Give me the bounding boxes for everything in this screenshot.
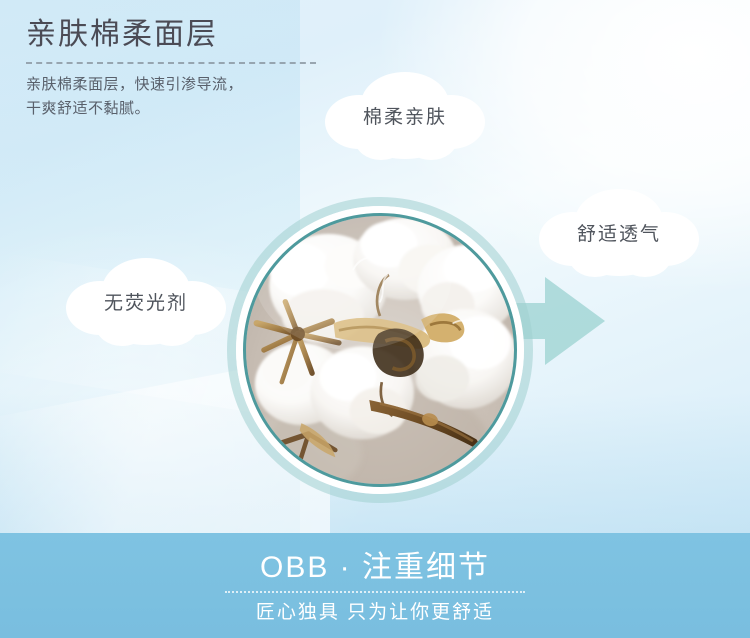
banner-divider <box>225 591 525 593</box>
title-divider <box>26 62 316 64</box>
cloud-badge-comfort-breathe: 舒适透气 <box>535 183 703 281</box>
cotton-photo-circle <box>227 197 533 503</box>
subtitle-line-2: 干爽舒适不黏腻。 <box>26 97 356 121</box>
page-title: 亲肤棉柔面层 <box>26 16 356 54</box>
banner-subtitle: 匠心独具 只为让你更舒适 <box>256 597 494 624</box>
product-detail-banner: 亲肤棉柔面层 亲肤棉柔面层，快速引渗导流， 干爽舒适不黏腻。 <box>0 0 750 638</box>
cloud-label-comfort-breathe: 舒适透气 <box>577 219 661 246</box>
cotton-photo <box>246 216 514 484</box>
header-block: 亲肤棉柔面层 亲肤棉柔面层，快速引渗导流， 干爽舒适不黏腻。 <box>26 16 356 121</box>
bottom-banner: OBB · 注重细节 匠心独具 只为让你更舒适 <box>0 533 750 638</box>
cloud-badge-no-fluorescent: 无荧光剂 <box>62 252 230 350</box>
cloud-label-no-fluorescent: 无荧光剂 <box>104 288 188 315</box>
subtitle-line-1: 亲肤棉柔面层，快速引渗导流， <box>26 73 356 97</box>
banner-title: OBB · 注重细节 <box>260 551 490 586</box>
cloud-badge-cotton-soft: 棉柔亲肤 <box>321 66 489 164</box>
subtitle-block: 亲肤棉柔面层，快速引渗导流， 干爽舒适不黏腻。 <box>26 73 356 122</box>
cloud-label-cotton-soft: 棉柔亲肤 <box>363 102 447 129</box>
